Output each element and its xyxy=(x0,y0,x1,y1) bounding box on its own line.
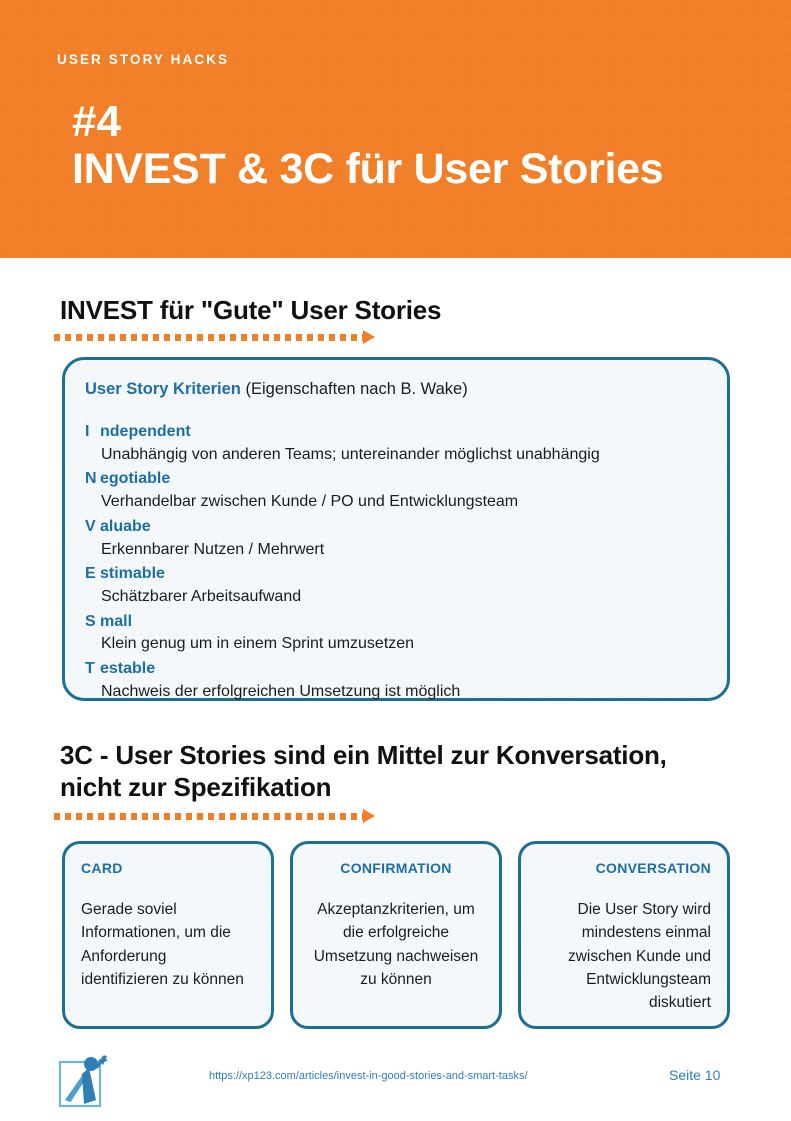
invest-term: Small xyxy=(85,611,711,634)
panel-title: User Story Kriterien (Eigenschaften nach… xyxy=(85,380,468,399)
invest-word: aluabe xyxy=(100,518,151,535)
panel-title-rest: (Eigenschaften nach B. Wake) xyxy=(241,380,468,398)
card-title: CONVERSATION xyxy=(537,860,711,876)
invest-word: mall xyxy=(100,613,132,630)
card-card: CARD Gerade soviel Informationen, um die… xyxy=(62,841,274,1029)
card-title: CONFIRMATION xyxy=(309,860,483,876)
invest-word: egotiable xyxy=(100,470,170,487)
invest-list: Independent Unabhängig von anderen Teams… xyxy=(85,421,711,706)
card-conversation: CONVERSATION Die User Story wird mindest… xyxy=(518,841,730,1029)
list-item: Valuabe Erkennbarer Nutzen / Mehrwert xyxy=(85,516,711,561)
list-item: Independent Unabhängig von anderen Teams… xyxy=(85,421,711,466)
invest-description: Erkennbarer Nutzen / Mehrwert xyxy=(85,539,711,562)
invest-letter: E xyxy=(85,563,100,586)
list-item: Small Klein genug um in einem Sprint umz… xyxy=(85,611,711,656)
page-title: INVEST & 3C für User Stories xyxy=(72,145,772,195)
card-body: Gerade soviel Informationen, um die Anfo… xyxy=(81,898,255,991)
card-title: CARD xyxy=(81,860,255,876)
arrowhead-icon xyxy=(363,809,375,823)
title-block: #4 INVEST & 3C für User Stories xyxy=(72,100,772,195)
invest-word: estable xyxy=(100,660,155,677)
invest-term: Testable xyxy=(85,658,711,681)
threec-section-heading: 3C - User Stories sind ein Mittel zur Ko… xyxy=(60,739,700,803)
arrowhead-icon xyxy=(363,330,375,344)
card-confirmation: CONFIRMATION Akzeptanzkriterien, um die … xyxy=(290,841,502,1029)
invest-letter: N xyxy=(85,468,100,491)
invest-letter: V xyxy=(85,516,100,539)
card-body: Akzeptanzkriterien, um die erfolgreiche … xyxy=(309,898,483,991)
invest-description: Nachweis der erfolgreichen Umsetzung ist… xyxy=(85,681,711,704)
invest-description: Schätzbarer Arbeitsaufwand xyxy=(85,586,711,609)
invest-letter: T xyxy=(85,658,100,681)
panel-title-bold: User Story Kriterien xyxy=(85,380,241,398)
card-body: Die User Story wird mindestens einmal zw… xyxy=(537,898,711,1014)
invest-word: ndependent xyxy=(100,423,191,440)
list-item: Testable Nachweis der erfolgreichen Umse… xyxy=(85,658,711,703)
dotted-arrow-icon xyxy=(54,330,384,344)
header-band: USER STORY HACKS #4 INVEST & 3C für User… xyxy=(0,0,791,258)
threec-cards: CARD Gerade soviel Informationen, um die… xyxy=(62,841,730,1029)
list-item: Negotiable Verhandelbar zwischen Kunde /… xyxy=(85,468,711,513)
invest-letter: I xyxy=(85,421,100,444)
hack-number: #4 xyxy=(72,100,772,145)
invest-term: Negotiable xyxy=(85,468,711,491)
invest-description: Unabhängig von anderen Teams; untereinan… xyxy=(85,444,711,467)
list-item: Estimable Schätzbarer Arbeitsaufwand xyxy=(85,563,711,608)
invest-term: Estimable xyxy=(85,563,711,586)
invest-description: Verhandelbar zwischen Kunde / PO und Ent… xyxy=(85,491,711,514)
page-number: Seite 10 xyxy=(669,1067,720,1083)
invest-description: Klein genug um in einem Sprint umzusetze… xyxy=(85,633,711,656)
invest-term: Valuabe xyxy=(85,516,711,539)
dotted-line xyxy=(54,813,367,820)
dotted-arrow-icon xyxy=(54,809,384,823)
invest-criteria-panel: User Story Kriterien (Eigenschaften nach… xyxy=(62,357,730,701)
invest-word: stimable xyxy=(100,565,165,582)
invest-letter: S xyxy=(85,611,100,634)
brand-logo-icon xyxy=(58,1054,110,1110)
invest-section-heading: INVEST für "Gute" User Stories xyxy=(60,294,441,326)
invest-term: Independent xyxy=(85,421,711,444)
dotted-line xyxy=(54,334,367,341)
source-url[interactable]: https://xp123.com/articles/invest-in-goo… xyxy=(209,1070,528,1082)
eyebrow-label: USER STORY HACKS xyxy=(57,52,229,67)
